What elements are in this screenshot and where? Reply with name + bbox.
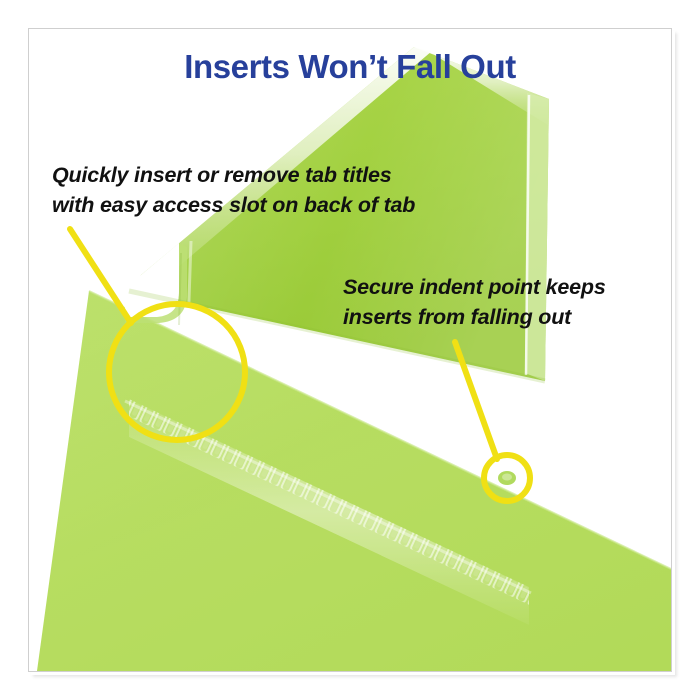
product-feature-image: Inserts Won’t Fall Out Quickly insert or… bbox=[0, 0, 700, 700]
page-title: Inserts Won’t Fall Out bbox=[0, 48, 700, 86]
annotation-access-slot-line1: Quickly insert or remove tab titles bbox=[52, 160, 415, 190]
annotation-access-slot: Quickly insert or remove tab titles with… bbox=[52, 160, 415, 220]
annotation-indent-point-line1: Secure indent point keeps bbox=[343, 272, 606, 302]
secure-indent-point bbox=[498, 471, 516, 485]
annotation-indent-point: Secure indent point keeps inserts from f… bbox=[343, 272, 606, 332]
annotation-indent-point-line2: inserts from falling out bbox=[343, 302, 606, 332]
product-photo bbox=[29, 29, 671, 671]
product-illustration bbox=[29, 29, 671, 671]
annotation-access-slot-line2: with easy access slot on back of tab bbox=[52, 190, 415, 220]
